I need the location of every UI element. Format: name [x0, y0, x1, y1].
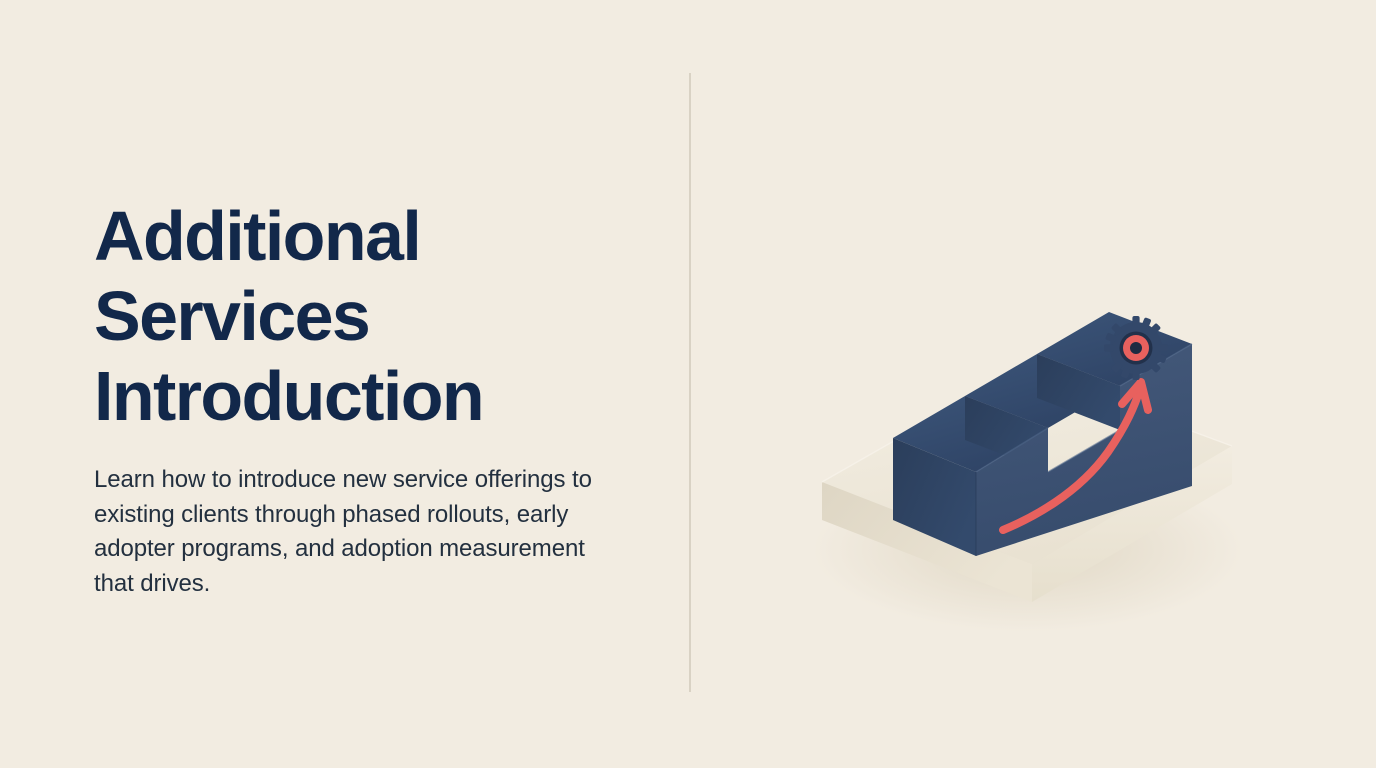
illustration-container — [760, 120, 1300, 680]
gear-icon — [1104, 316, 1168, 380]
subtitle-paragraph: Learn how to introduce new service offer… — [94, 463, 614, 601]
isometric-staircase-illustration — [760, 120, 1300, 680]
page-title: Additional Services Introduction — [94, 196, 639, 436]
text-column: Additional Services Introduction Learn h… — [94, 196, 639, 601]
slide-canvas: Additional Services Introduction Learn h… — [0, 0, 1376, 768]
vertical-divider — [689, 73, 691, 692]
